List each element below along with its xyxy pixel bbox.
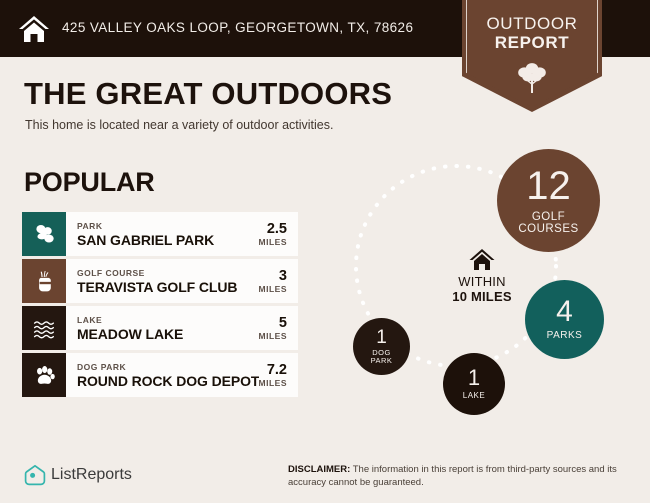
chart-center-label: WITHIN 10 MILES: [430, 248, 534, 304]
list-item-distance-value: 2.5: [259, 221, 287, 237]
list-item-text: GOLF COURSE TERAVISTA GOLF CLUB: [66, 268, 259, 295]
list-item[interactable]: GOLF COURSE TERAVISTA GOLF CLUB 3 MILES: [22, 259, 298, 303]
list-item-category: GOLF COURSE: [77, 268, 259, 279]
popular-list: PARK SAN GABRIEL PARK 2.5 MILES GOLF COU…: [22, 212, 298, 400]
disclaimer-label: DISCLAIMER:: [288, 464, 350, 475]
list-item-name: SAN GABRIEL PARK: [77, 232, 259, 248]
listreports-logo-text: ListReports: [51, 466, 132, 484]
list-item-name: ROUND ROCK DOG DEPOT: [77, 373, 259, 389]
list-item-distance-unit: MILES: [259, 237, 287, 248]
list-item-name: MEADOW LAKE: [77, 326, 259, 342]
list-item[interactable]: LAKE MEADOW LAKE 5 MILES: [22, 306, 298, 350]
list-item-distance: 7.2 MILES: [259, 362, 298, 389]
bubble-golf-courses[interactable]: 12 GOLF COURSES: [497, 149, 600, 252]
chart-center-line2: 10 MILES: [430, 289, 534, 304]
list-item-text: PARK SAN GABRIEL PARK: [66, 221, 259, 248]
bubble-label-line1: PARKS: [547, 331, 583, 342]
list-item-distance-unit: MILES: [259, 284, 287, 295]
paw-print-icon: [22, 353, 66, 397]
list-item[interactable]: DOG PARK ROUND ROCK DOG DEPOT 7.2 MILES: [22, 353, 298, 397]
bubble-label-line2: PARK: [371, 357, 393, 365]
chart-center-line1: WITHIN: [430, 274, 534, 289]
badge-label-line2: REPORT: [466, 33, 598, 52]
list-item-category: PARK: [77, 221, 259, 232]
list-item[interactable]: PARK SAN GABRIEL PARK 2.5 MILES: [22, 212, 298, 256]
bubble-parks[interactable]: 4 PARKS: [525, 280, 604, 359]
home-icon: [18, 13, 50, 45]
listreports-house-icon: [24, 464, 46, 486]
page-subtitle: This home is located near a variety of o…: [25, 118, 333, 132]
bubble-label-line1: LAKE: [463, 392, 485, 401]
bubble-value: 1: [376, 328, 387, 347]
list-item-distance-value: 3: [259, 268, 287, 284]
list-item-distance: 2.5 MILES: [259, 221, 298, 248]
tree-icon: [516, 60, 548, 94]
bubble-label-line2: COURSES: [518, 223, 578, 235]
within-10-miles-chart: 12 GOLF COURSES 4 PARKS 1 LAKE 1 DOG PAR…: [330, 140, 640, 430]
bubble-lake[interactable]: 1 LAKE: [443, 353, 505, 415]
list-item-distance: 3 MILES: [259, 268, 298, 295]
list-item-text: DOG PARK ROUND ROCK DOG DEPOT: [66, 362, 259, 389]
popular-heading: POPULAR: [24, 167, 155, 198]
list-item-text: LAKE MEADOW LAKE: [66, 315, 259, 342]
park-tree-icon: [22, 212, 66, 256]
bubble-value: 12: [526, 166, 571, 206]
bubble-label-line1: GOLF: [532, 211, 565, 223]
page-title: THE GREAT OUTDOORS: [24, 76, 392, 112]
property-address: 425 VALLEY OAKS LOOP, GEORGETOWN, TX, 78…: [62, 20, 413, 35]
bubble-dog-park[interactable]: 1 DOG PARK: [353, 318, 410, 375]
list-item-category: LAKE: [77, 315, 259, 326]
disclaimer: DISCLAIMER: The information in this repo…: [288, 464, 636, 489]
list-item-name: TERAVISTA GOLF CLUB: [77, 279, 259, 295]
list-item-distance-unit: MILES: [259, 331, 287, 342]
list-item-distance: 5 MILES: [259, 315, 298, 342]
badge-label-line1: OUTDOOR: [466, 14, 598, 33]
badge-label: OUTDOOR REPORT: [466, 14, 598, 52]
list-item-distance-unit: MILES: [259, 378, 287, 389]
list-item-distance-value: 5: [259, 315, 287, 331]
water-waves-icon: [22, 306, 66, 350]
golf-bag-icon: [22, 259, 66, 303]
list-item-category: DOG PARK: [77, 362, 259, 373]
bubble-value: 1: [468, 367, 480, 389]
list-item-distance-value: 7.2: [259, 362, 287, 378]
home-icon: [469, 248, 495, 272]
bubble-value: 4: [556, 297, 573, 327]
